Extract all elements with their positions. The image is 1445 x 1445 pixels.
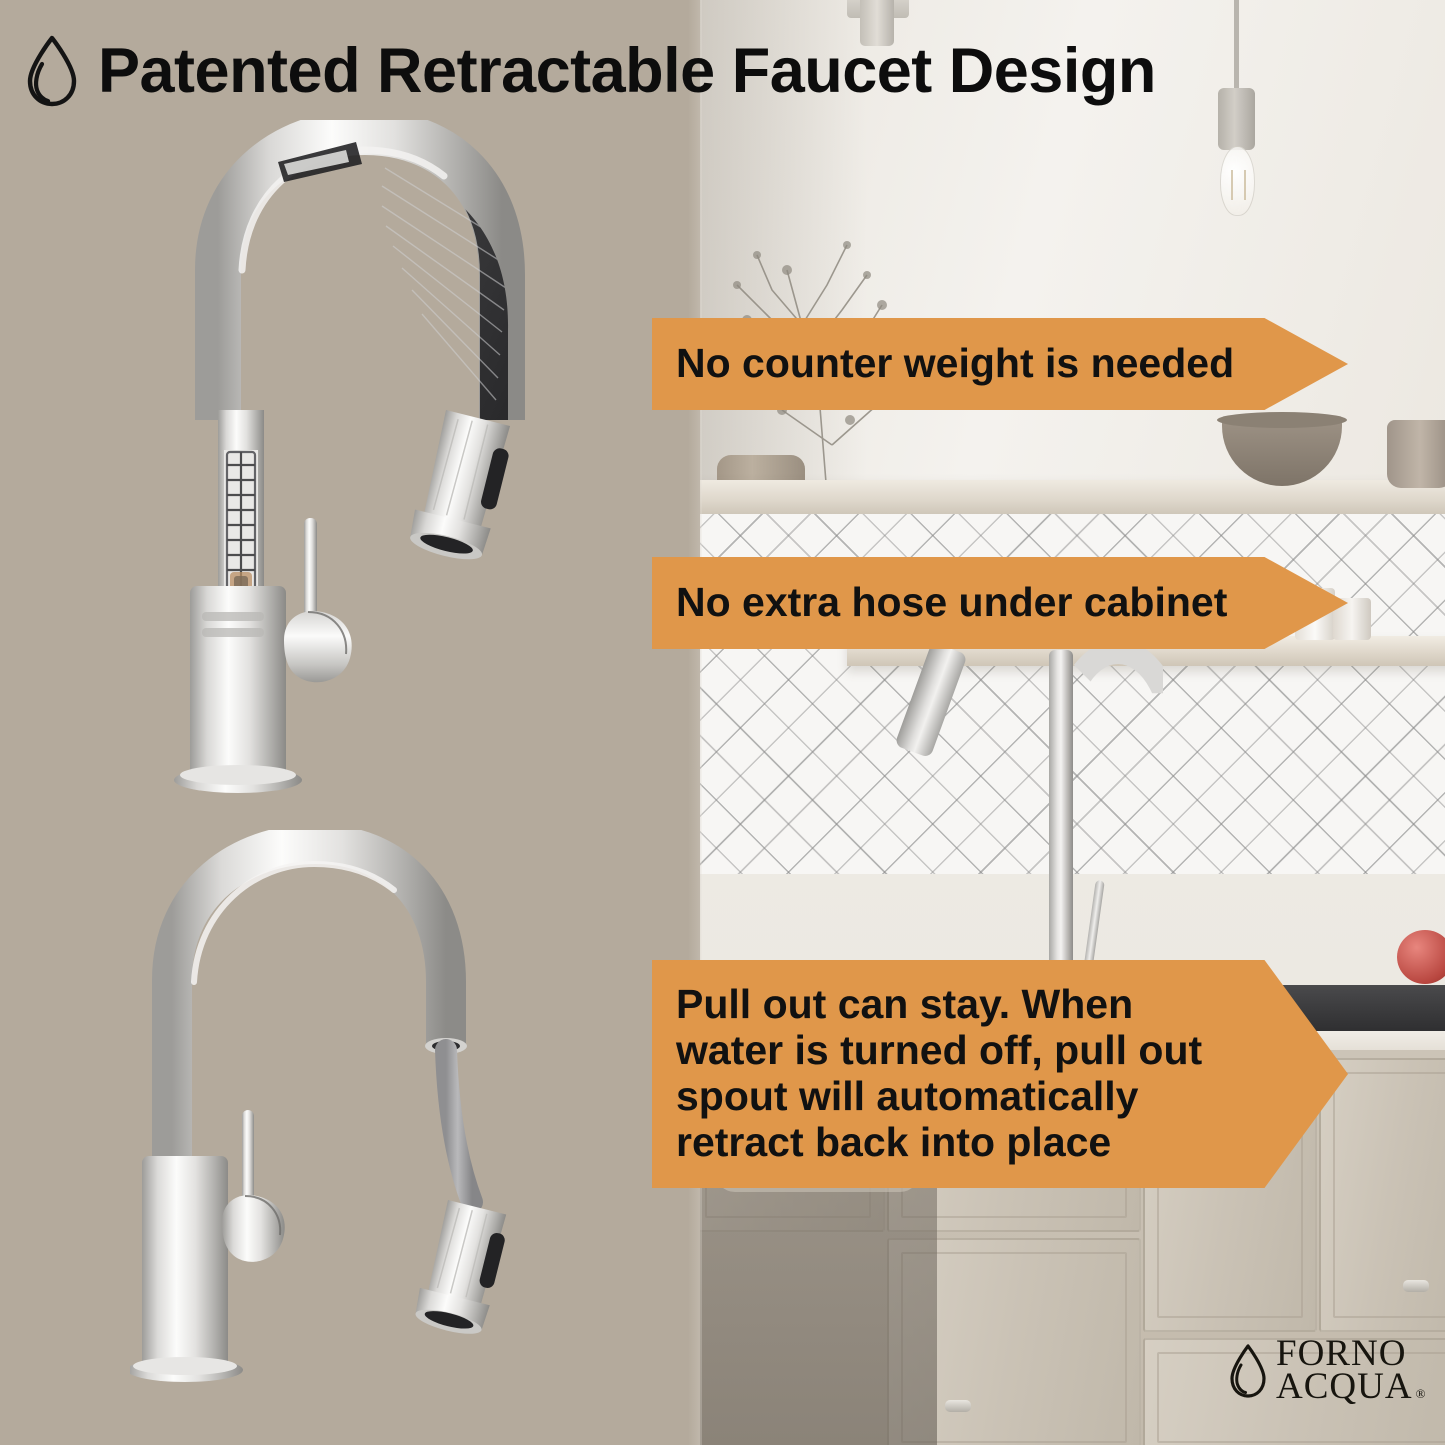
infographic-canvas: Patented Retractable Faucet Design No co…: [0, 0, 1445, 1445]
bulb-filament: [1231, 170, 1246, 200]
water-drop-icon: [24, 34, 80, 108]
upper-shelf: [697, 480, 1445, 514]
pitcher: [1387, 420, 1445, 488]
panel-edge-gradient: [688, 0, 702, 1445]
faucet-cutaway-retracted: [150, 120, 590, 800]
feature-banner-2[interactable]: No extra hose under cabinet: [652, 557, 1348, 649]
logo-acqua-text: ACQUA: [1276, 1371, 1413, 1404]
kitchen-photo: [697, 0, 1445, 1445]
installed-faucet-column: [1049, 650, 1073, 980]
page-title: Patented Retractable Faucet Design: [98, 40, 1156, 103]
brand-logo: FORNO ACQUA ®: [1228, 1338, 1426, 1403]
logo-wordmark: FORNO ACQUA ®: [1276, 1338, 1426, 1403]
feature-banner-3-label: Pull out can stay. When water is turned …: [652, 982, 1298, 1166]
feature-banner-1-label: No counter weight is needed: [652, 341, 1234, 387]
registered-trademark-icon: ®: [1416, 1388, 1427, 1399]
ceramic-bowl-rim: [1217, 412, 1347, 428]
feature-banner-2-label: No extra hose under cabinet: [652, 580, 1227, 626]
page-title-row: Patented Retractable Faucet Design: [24, 34, 1156, 108]
faucet-spray-extended: [130, 830, 570, 1445]
logo-water-drop-icon: [1228, 1343, 1268, 1399]
feature-banner-1[interactable]: No counter weight is needed: [652, 318, 1348, 410]
logo-line-acqua: ACQUA ®: [1276, 1371, 1426, 1404]
apple: [1397, 930, 1445, 984]
pendant-socket: [1218, 88, 1255, 150]
cabinet-knob: [1403, 1280, 1429, 1292]
cabinet-knob: [945, 1400, 971, 1412]
feature-banner-3[interactable]: Pull out can stay. When water is turned …: [652, 960, 1348, 1188]
pendant-cord: [1234, 0, 1239, 92]
